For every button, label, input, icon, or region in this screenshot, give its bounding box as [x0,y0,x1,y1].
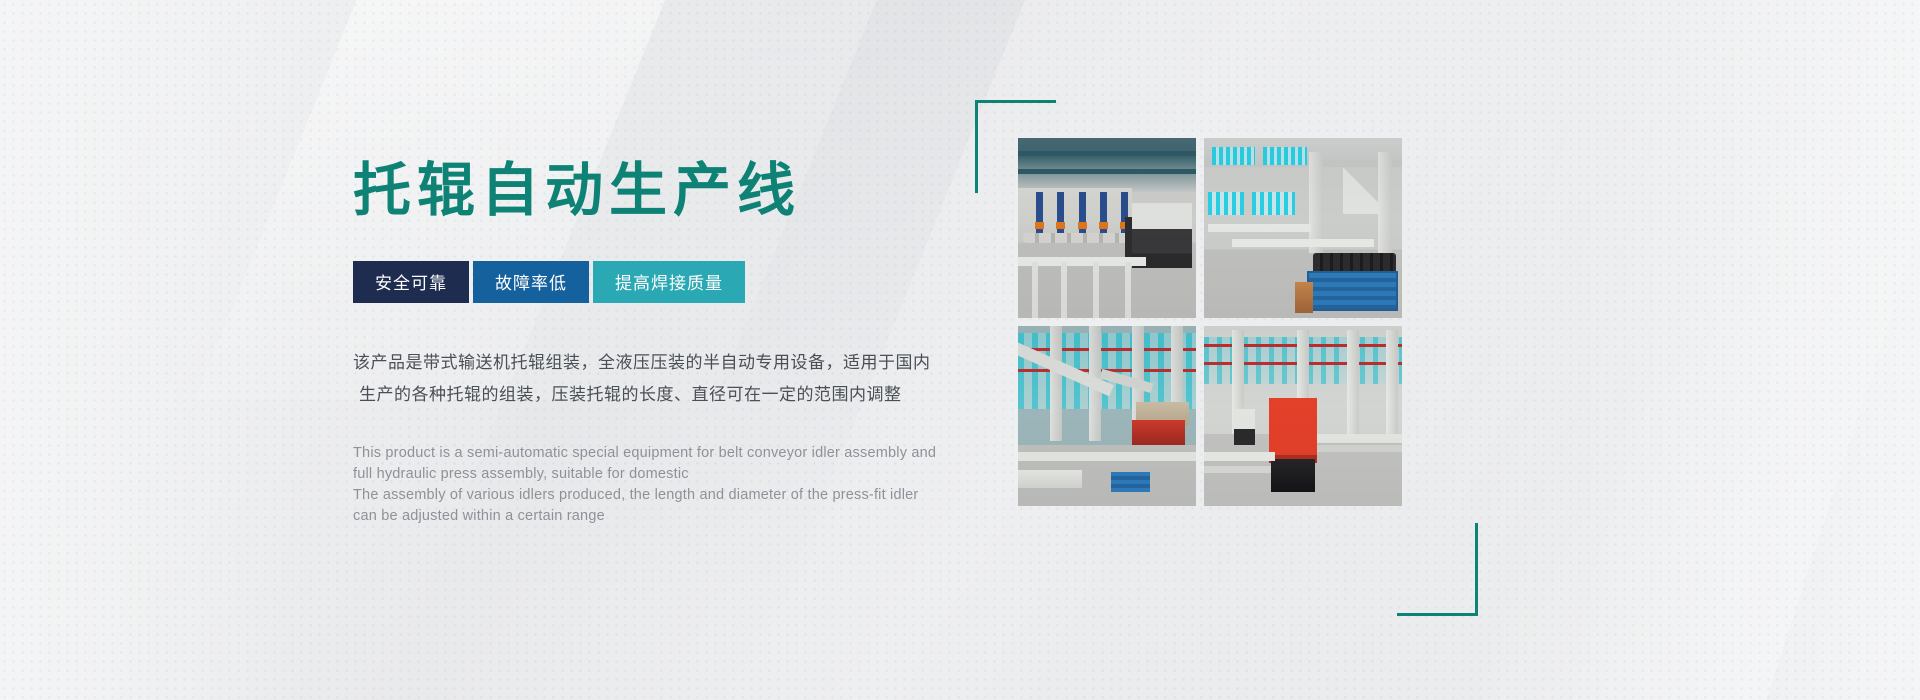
photo-4-shade [1204,326,1402,506]
photo-roller-conveyor-line[interactable] [1018,138,1196,318]
description-english-line-4: can be adjusted within a certain range [353,506,953,527]
feature-tag-low-failure-rate[interactable]: 故障率低 [473,261,589,303]
photo-red-press-machine[interactable] [1204,326,1402,506]
background-right-fade [1580,0,1920,700]
feature-tag-safe-reliable[interactable]: 安全可靠 [353,261,469,303]
description-english-line-3: The assembly of various idlers produced,… [353,485,953,506]
description-chinese-line-1: 该产品是带式输送机托辊组装，全液压压装的半自动专用设备，适用于国内 [353,347,953,379]
product-banner: 托辊自动生产线 安全可靠 故障率低 提高焊接质量 该产品是带式输送机托辊组装，全… [0,0,1920,700]
description-chinese-line-2: 生产的各种托辊的组装，压装托辊的长度、直径可在一定的范围内调整 [353,379,953,411]
feature-tag-row: 安全可靠 故障率低 提高焊接质量 [353,261,953,303]
description-english-line-2: full hydraulic press assembly, suitable … [353,464,953,485]
background-dot-pattern [0,0,1920,700]
description-chinese: 该产品是带式输送机托辊组装，全液压压装的半自动专用设备，适用于国内 生产的各种托… [353,347,953,411]
photo-2-shade [1204,138,1402,318]
photo-workshop-interior[interactable] [1018,326,1196,506]
photo-gallery [1010,100,1440,570]
background-left-fade [0,0,300,700]
page-title: 托辊自动生产线 [353,160,953,223]
feature-tag-improve-weld-quality[interactable]: 提高焊接质量 [593,261,745,303]
photo-1-shade [1018,138,1196,318]
banner-text-block: 托辊自动生产线 安全可靠 故障率低 提高焊接质量 该产品是带式输送机托辊组装，全… [353,160,953,527]
description-english-line-1: This product is a semi-automatic special… [353,443,953,464]
photo-3-shade [1018,326,1196,506]
photo-grid [1018,138,1402,506]
corner-bracket-bottom-right [1397,523,1478,616]
description-english: This product is a semi-automatic special… [353,443,953,527]
photo-workshop-rollers-bin[interactable] [1204,138,1402,318]
